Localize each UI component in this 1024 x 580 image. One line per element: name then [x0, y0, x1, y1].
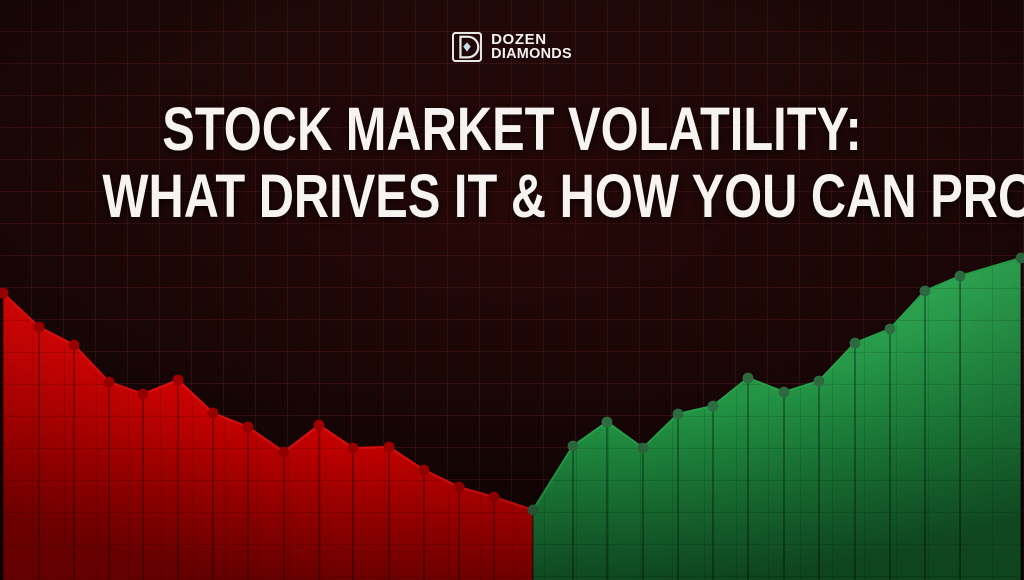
data-point-marker[interactable]: [348, 443, 359, 454]
data-point-marker[interactable]: [138, 389, 149, 400]
data-point-marker[interactable]: [568, 441, 579, 452]
data-point-marker[interactable]: [419, 465, 430, 476]
brand-logo[interactable]: DOZEN DIAMONDS: [0, 32, 1024, 62]
data-point-marker[interactable]: [454, 482, 465, 493]
data-point-marker[interactable]: [743, 373, 754, 384]
data-point-marker[interactable]: [955, 271, 966, 282]
dozen-diamonds-monogram-icon: [452, 32, 482, 62]
data-point-marker[interactable]: [673, 409, 684, 420]
data-point-marker[interactable]: [920, 286, 931, 297]
data-point-marker[interactable]: [885, 324, 896, 335]
data-point-marker[interactable]: [34, 322, 45, 333]
data-point-marker[interactable]: [279, 447, 290, 458]
stock-chart: [0, 0, 1024, 580]
data-point-marker[interactable]: [708, 401, 719, 412]
brand-line-1: DOZEN: [491, 32, 572, 47]
data-point-marker[interactable]: [850, 338, 861, 349]
data-point-marker[interactable]: [528, 505, 539, 516]
bullish-area: [528, 253, 1024, 580]
data-point-marker[interactable]: [384, 442, 395, 453]
data-point-marker[interactable]: [779, 387, 790, 398]
data-point-marker[interactable]: [173, 375, 184, 386]
data-point-marker[interactable]: [243, 422, 254, 433]
data-point-marker[interactable]: [638, 443, 649, 454]
data-point-marker[interactable]: [69, 340, 80, 351]
data-point-marker[interactable]: [602, 417, 613, 428]
data-point-marker[interactable]: [104, 377, 115, 388]
chart-svg: [0, 0, 1024, 580]
data-point-marker[interactable]: [814, 376, 825, 387]
data-point-marker[interactable]: [208, 408, 219, 419]
brand-line-2: DIAMONDS: [491, 47, 572, 61]
data-point-marker[interactable]: [489, 492, 500, 503]
brand-logo-text: DOZEN DIAMONDS: [491, 32, 572, 61]
bearish-area: [0, 288, 538, 580]
poster-canvas: DOZEN DIAMONDS STOCK MARKET VOLATILITY: …: [0, 0, 1024, 580]
data-point-marker[interactable]: [314, 420, 325, 431]
